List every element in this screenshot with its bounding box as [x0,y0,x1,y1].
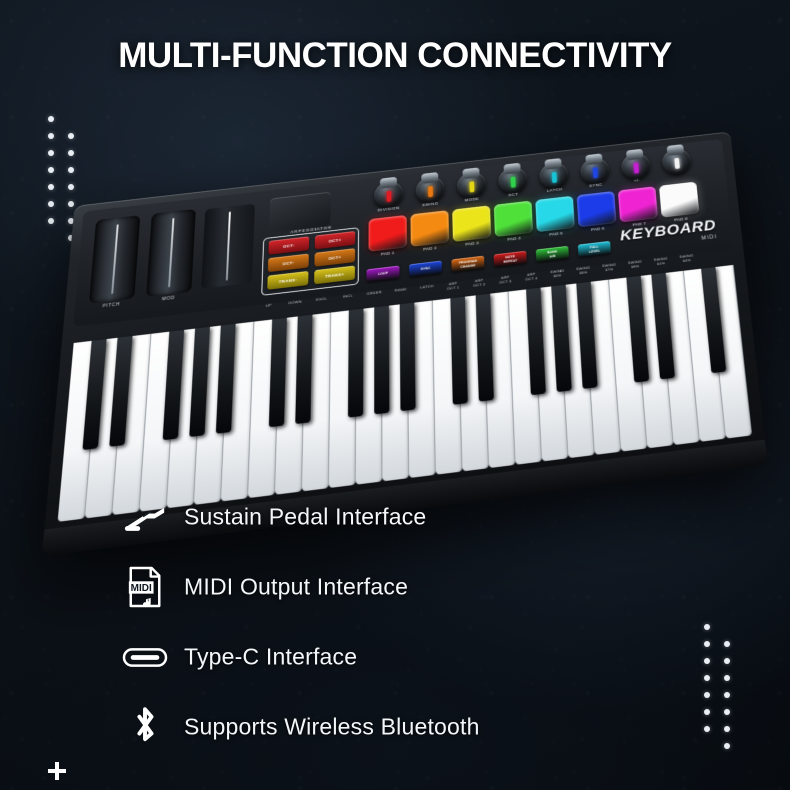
dot-grid-left [48,116,74,241]
decor-dot [724,743,730,749]
knob-label: LATCH [534,185,575,194]
decor-dot [68,184,74,190]
feature-label: Sustain Pedal Interface [184,504,426,531]
function-button-full-level[interactable]: FULLLEVEL [578,241,611,258]
knob-led [551,172,556,183]
knob-oct[interactable] [498,166,527,194]
decor-dot [68,133,74,139]
knob-cap [626,149,643,161]
knob-cap [421,172,438,184]
feature-item: MIDIMIDI Output Interface [118,552,638,622]
knob--[interactable] [621,152,651,180]
slider-strip[interactable] [201,204,255,289]
legend-label: SWING64% [673,253,700,264]
feature-label: MIDI Output Interface [184,574,408,601]
pitch-wheel[interactable] [89,215,140,304]
black-key[interactable] [400,303,416,412]
function-button-bank-a-b[interactable]: BANKA/B [536,246,569,263]
knob-cap [667,144,685,156]
decor-dot [68,167,74,173]
legend-label: SWING57% [595,262,622,274]
decor-dot [704,658,710,664]
decor-dot [704,675,710,681]
function-button-line2: LEVEL [589,249,600,254]
knob-led [633,162,639,173]
knob-label: MODE [451,195,493,204]
knob-latch[interactable] [539,161,568,189]
decor-dot [68,116,74,122]
decor-dot [48,201,54,207]
knob-cap [544,158,561,170]
pad-3[interactable] [452,205,491,242]
knob-division[interactable] [374,180,402,208]
legend-label: SWING61% [647,256,674,267]
function-button-line2: CHANGE [460,263,475,268]
pad-2[interactable] [410,210,449,247]
dot-grid-right [704,624,730,749]
black-key[interactable] [450,297,467,405]
feature-label: Supports Wireless Bluetooth [184,714,480,741]
svg-text:MIDI: MIDI [131,583,152,594]
decor-dot [704,743,710,749]
pad-1[interactable] [369,215,407,252]
legend-label: SWING50% [544,268,571,280]
legend-label: ARPOCT 2 [466,277,493,289]
knob-label: OCT [492,190,534,199]
decor-dot [48,150,54,156]
knob-led [386,191,391,202]
decor-dot [48,184,54,190]
legend-label: ARPOCT 3 [492,274,519,286]
midi-port-icon: MIDI [118,564,172,610]
page-title: MULTI-FUNCTION CONNECTIVITY [0,36,790,76]
decor-dot [48,167,54,173]
mod-wheel[interactable] [146,209,196,297]
feature-label: Type-C Interface [184,644,357,671]
knob-led [469,181,474,192]
bluetooth-icon [118,704,172,750]
promo-image: MULTI-FUNCTION CONNECTIVITY PITCH MOD AR… [0,0,790,790]
knob-label: DIVISION [368,204,410,213]
knob-mode[interactable] [457,171,486,199]
pad-8[interactable] [659,182,699,218]
function-button-program-change[interactable]: PROGRAMCHANGE [451,256,484,273]
decor-dot [48,133,54,139]
feature-item: Sustain Pedal Interface [118,482,638,552]
feature-item: Supports Wireless Bluetooth [118,692,638,762]
legend-label: SWING59% [621,259,648,271]
pad-7[interactable] [618,186,658,222]
legend-label: SWING55% [570,265,597,277]
function-button-line1: LOOP [378,272,388,277]
pad-5[interactable] [535,196,575,232]
knob-swing[interactable] [416,176,445,204]
knob-led [674,158,680,169]
decor-dot [724,675,730,681]
midi-keyboard-product: PITCH MOD ARPEGGIATOR OCT-OCT+OCT-OCT+TR… [43,131,766,539]
function-button-loop[interactable]: LOOP [367,266,400,283]
feature-list: Sustain Pedal InterfaceMIDIMIDI Output I… [118,482,638,762]
decor-dot [48,235,54,241]
sustain-pedal-icon [118,494,172,540]
decor-dot [724,658,730,664]
knob-led [428,186,433,197]
black-key[interactable] [269,318,287,428]
knob-cap [380,177,397,189]
decor-dot [48,218,54,224]
function-button-line1: SYNC [421,267,431,272]
function-button-sync[interactable]: SYNC [409,261,442,278]
decor-dot [48,116,54,122]
knob-cap [585,153,602,165]
decor-dot [724,641,730,647]
decor-dot [704,726,710,732]
knob-sync[interactable] [580,157,610,185]
knob-cap [462,167,479,179]
decor-dot [724,726,730,732]
knob-label: SWING [409,200,451,209]
plus-mark-icon [48,762,66,780]
knob-led [510,177,515,188]
pad-6[interactable] [577,191,617,227]
decor-dot [704,692,710,698]
black-key[interactable] [348,309,364,418]
knob-led [592,167,597,178]
legend-label: ARPOCT 4 [518,271,545,283]
black-key[interactable] [295,315,312,424]
feature-item: Type-C Interface [118,622,638,692]
pad-4[interactable] [494,201,533,238]
decor-dot [724,624,730,630]
function-button-line2: REPEAT [503,258,517,263]
decor-dot [68,150,74,156]
decor-dot [724,709,730,715]
decor-dot [704,624,710,630]
usb-type-c-icon [118,634,172,680]
decor-dot [724,692,730,698]
legend-label: ARPOCT 1 [439,281,466,293]
knob-slot-8[interactable] [661,148,691,176]
knob-label: SYNC [575,181,616,190]
knob-label: +/- [616,176,657,185]
knob-cap [504,163,521,175]
black-key[interactable] [374,306,389,415]
function-button-note-repeat[interactable]: NOTEREPEAT [494,251,527,268]
decor-dot [68,201,74,207]
decor-dot [704,709,710,715]
function-button-line2: A/B [549,254,555,258]
decor-dot [704,641,710,647]
